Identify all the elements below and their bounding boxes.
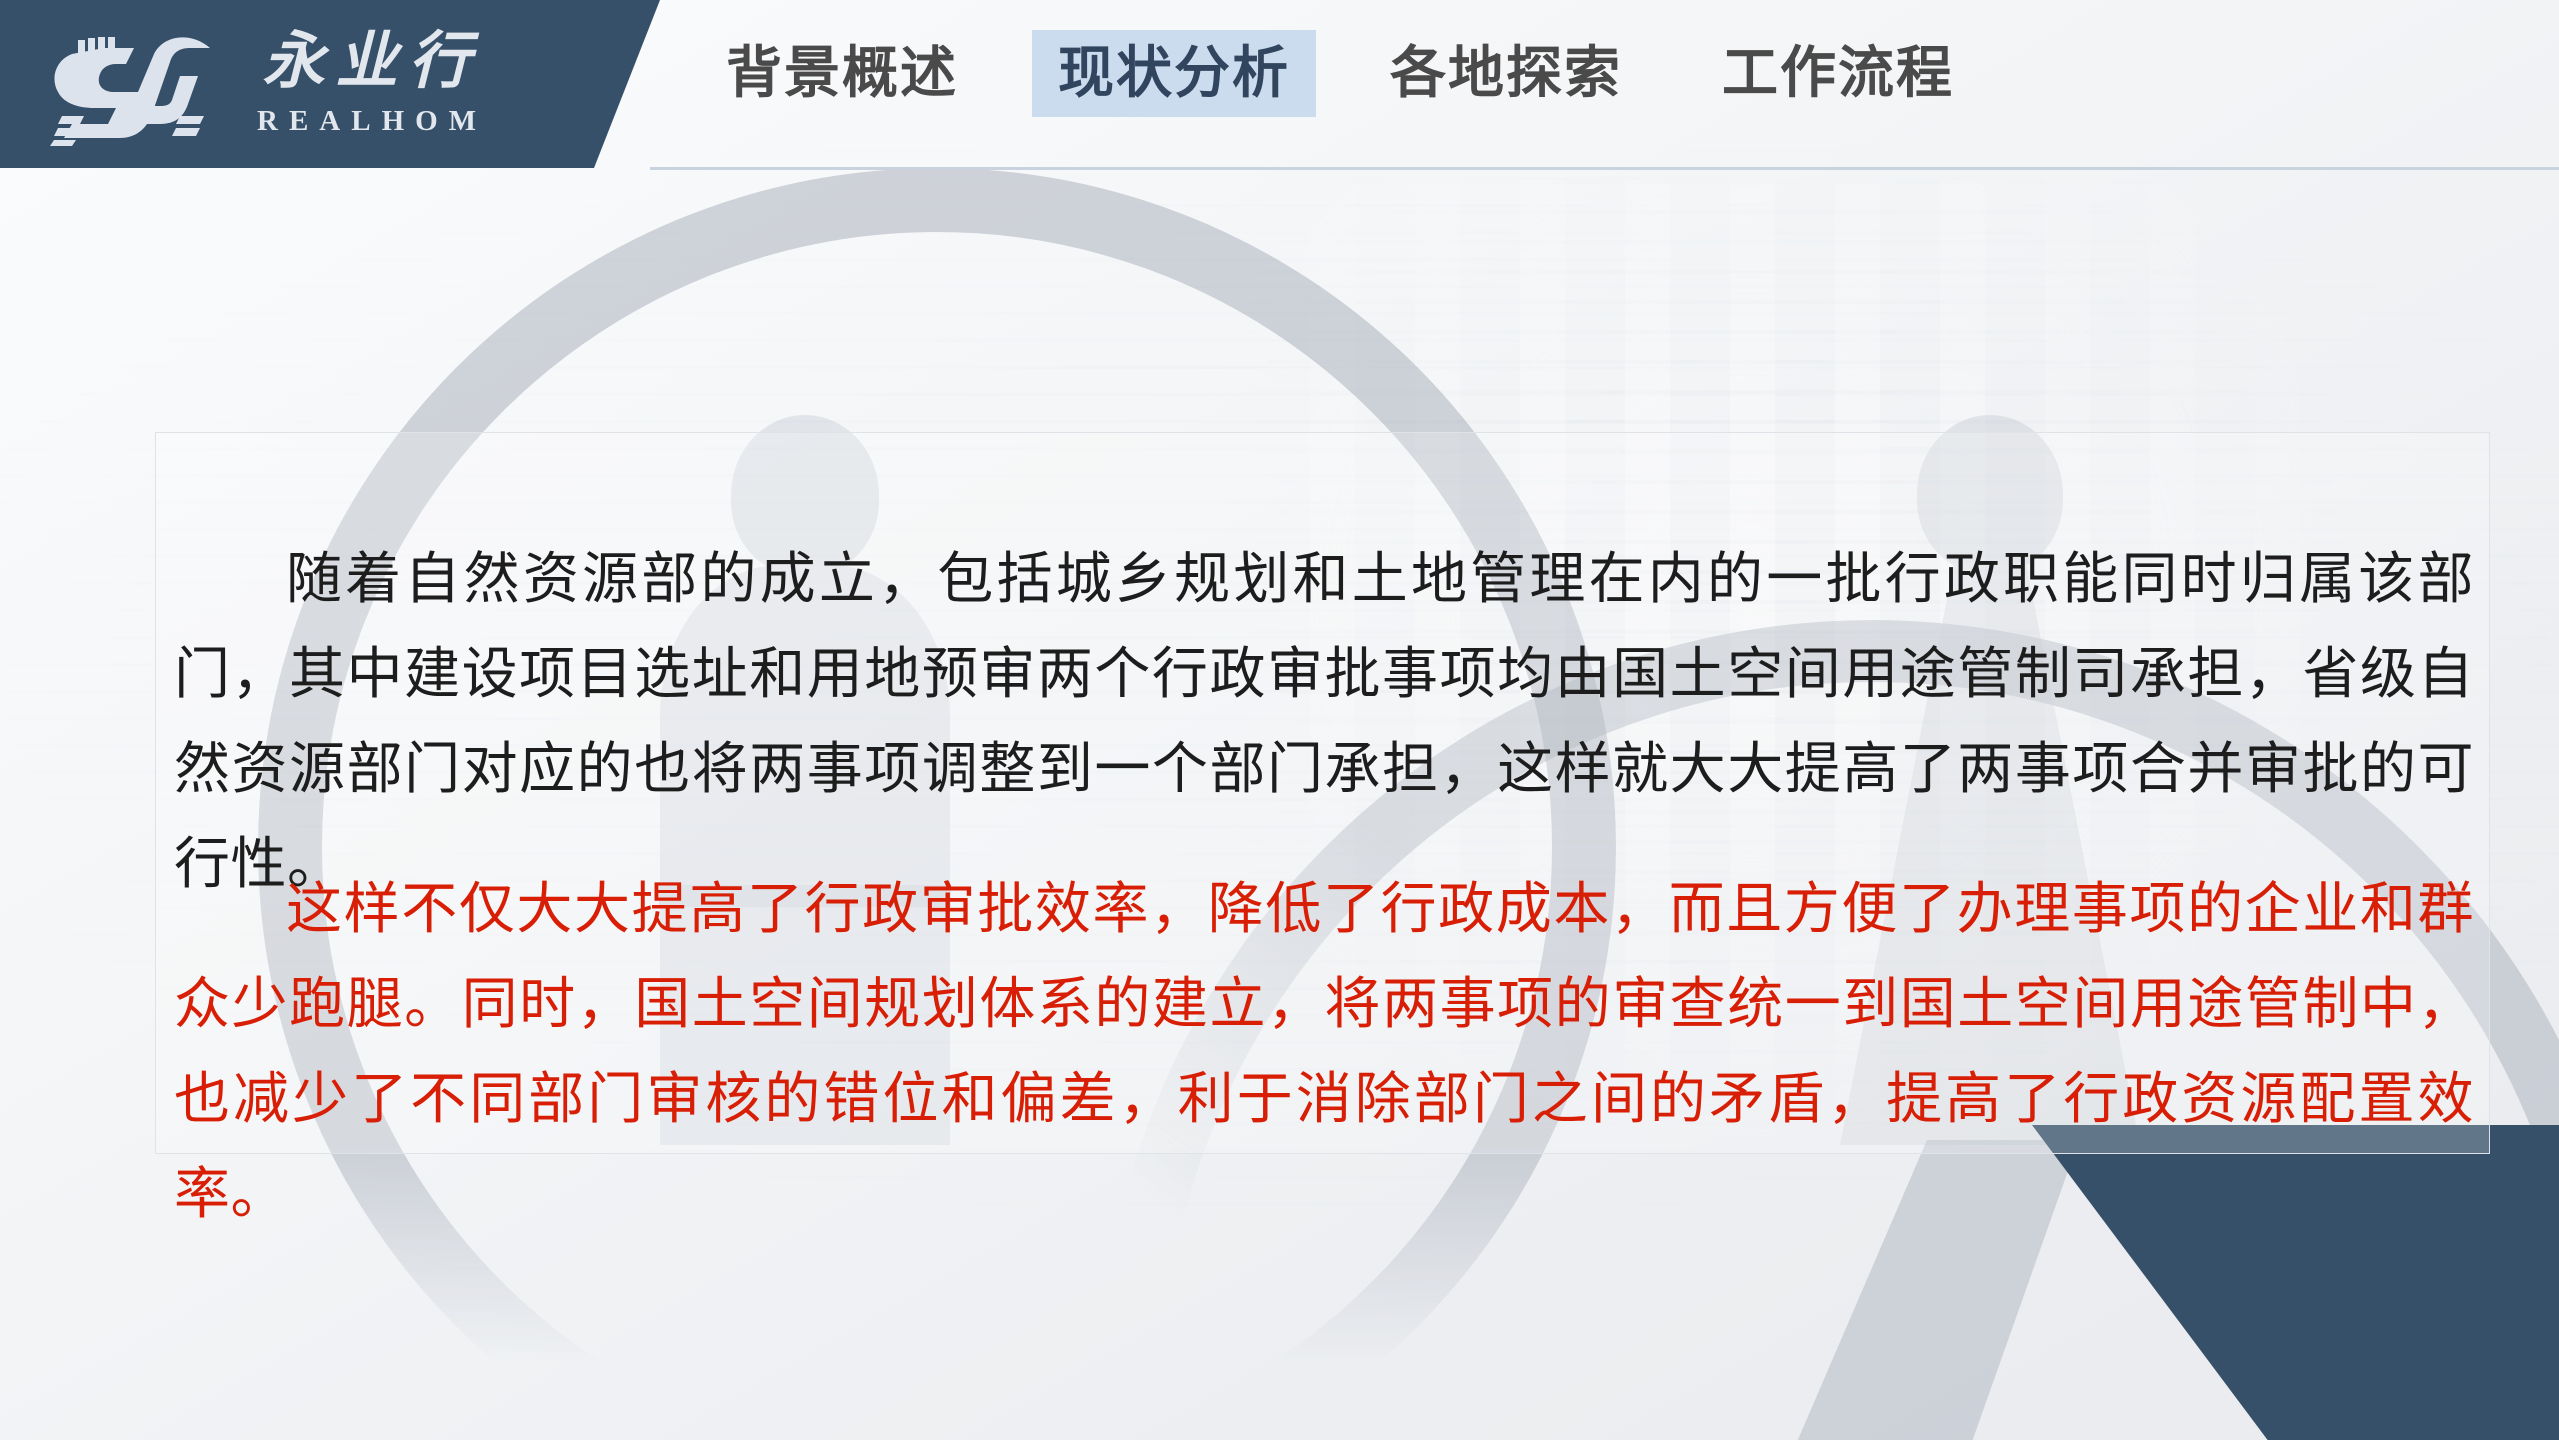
logo-band: 永业行 REALHOM: [0, 0, 660, 168]
nav-tab-work-process[interactable]: 工作流程: [1696, 30, 1980, 117]
slide-header: 永业行 REALHOM 背景概述 现状分析 各地探索 工作流程: [0, 0, 2559, 170]
header-divider: [650, 167, 2559, 170]
paragraph-background-context: 随着自然资源部的成立，包括城乡规划和土地管理在内的一批行政职能同时归属该部门，其…: [174, 531, 2474, 911]
nav-tab-current-analysis[interactable]: 现状分析: [1032, 30, 1316, 117]
paragraph-highlighted-benefits: 这样不仅大大提高了行政审批效率，降低了行政成本，而且方便了办理事项的企业和群众少…: [174, 861, 2474, 1241]
logo-chinese-name: 永业行: [252, 31, 482, 93]
content-panel: 随着自然资源部的成立，包括城乡规划和土地管理在内的一批行政职能同时归属该部门，其…: [155, 432, 2490, 1154]
nav-tab-background-overview[interactable]: 背景概述: [700, 30, 984, 117]
logo-english-name: REALHOM: [246, 105, 487, 138]
logo-wordmark: 永业行 REALHOM: [246, 31, 487, 138]
yh-monogram-logo-icon: [42, 20, 232, 148]
top-navigation: 背景概述 现状分析 各地探索 工作流程: [700, 30, 1980, 117]
nav-tab-regional-exploration[interactable]: 各地探索: [1364, 30, 1648, 117]
slide-canvas: 永业行 REALHOM 背景概述 现状分析 各地探索 工作流程 随着自然资源部的…: [0, 0, 2559, 1440]
